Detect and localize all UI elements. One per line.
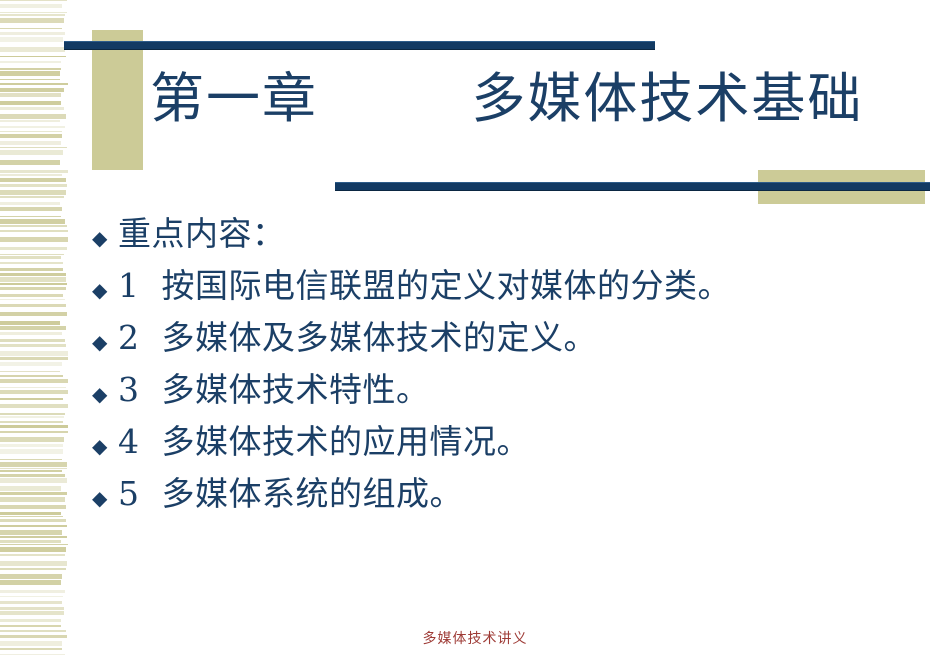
diamond-bullet-icon: ◆ — [92, 384, 118, 404]
stripe-line — [0, 574, 62, 579]
stripe-line — [0, 56, 66, 57]
stripe-line — [0, 516, 63, 517]
stripe-line — [0, 590, 65, 593]
list-item-label: 1 按国际电信联盟的定义对媒体的分类。 — [118, 269, 922, 302]
stripe-line — [0, 326, 66, 330]
stripe-line — [0, 462, 67, 467]
stripe-line — [0, 304, 66, 307]
stripe-line — [0, 547, 66, 552]
stripe-line — [0, 413, 65, 415]
stripe-line — [0, 540, 61, 543]
stripe-line — [0, 390, 68, 394]
list-item-label: 5 多媒体系统的组成。 — [118, 477, 922, 510]
stripe-line — [0, 321, 60, 325]
stripe-line — [0, 468, 67, 469]
stripe-line — [0, 14, 65, 16]
stripe-line — [0, 536, 67, 538]
stripe-line — [0, 530, 62, 535]
stripe-line — [0, 71, 60, 76]
stripe-line — [0, 256, 61, 259]
stripe-line — [0, 219, 65, 224]
stripe-line — [0, 273, 66, 276]
stripe-line — [0, 596, 63, 597]
stripe-line — [0, 625, 61, 627]
stripe-line — [0, 444, 63, 447]
stripe-line — [0, 478, 67, 483]
diamond-bullet-icon: ◆ — [92, 280, 118, 300]
stripe-line — [0, 247, 67, 250]
stripe-line — [0, 425, 68, 428]
list-item: ◆ 3 多媒体技术特性。 — [92, 373, 922, 425]
stripe-line — [0, 497, 65, 502]
stripe-line — [0, 196, 64, 198]
stripe-line — [0, 68, 61, 70]
stripe-line — [0, 134, 62, 138]
left-stripe-decoration — [0, 0, 68, 658]
stripe-line — [0, 141, 61, 145]
stripe-line — [0, 619, 61, 622]
stripe-line — [0, 421, 63, 423]
presentation-slide: 第一章 多媒体技术基础 ◆ 重点内容： ◆ 1 按国际电信联盟的定义对媒体的分类… — [0, 0, 950, 658]
list-item: ◆ 5 多媒体系统的组成。 — [92, 477, 922, 529]
bullet-list: ◆ 重点内容： ◆ 1 按国际电信联盟的定义对媒体的分类。 ◆ 2 多媒体及多媒… — [92, 217, 922, 529]
slide-footer: 多媒体技术讲义 — [0, 628, 950, 648]
stripe-line — [0, 431, 68, 433]
stripe-line — [0, 287, 66, 290]
stripe-line — [0, 93, 61, 97]
stripe-line — [0, 207, 62, 211]
stripe-line — [0, 237, 68, 242]
stripe-line — [0, 262, 63, 264]
stripe-line — [0, 4, 62, 8]
stripe-line — [0, 492, 67, 495]
navy-rule-top — [64, 41, 655, 50]
list-item: ◆ 1 按国际电信联盟的定义对媒体的分类。 — [92, 269, 922, 321]
khaki-accent-block-left — [92, 30, 143, 170]
stripe-line — [0, 519, 66, 522]
diamond-bullet-icon: ◆ — [92, 436, 118, 456]
stripe-line — [0, 351, 68, 356]
stripe-line — [0, 449, 63, 454]
diamond-bullet-icon: ◆ — [92, 228, 118, 248]
stripe-line — [0, 131, 62, 132]
stripe-line — [0, 332, 62, 335]
stripe-line — [0, 601, 62, 604]
stripe-line — [0, 379, 68, 383]
stripe-line — [0, 120, 60, 122]
stripe-line — [0, 357, 68, 360]
stripe-line — [0, 344, 66, 347]
stripe-line — [0, 170, 68, 173]
stripe-line — [0, 568, 66, 570]
stripe-line — [0, 544, 68, 545]
stripe-line — [0, 32, 65, 35]
stripe-line — [0, 18, 64, 23]
stripe-line — [0, 184, 67, 187]
stripe-line — [0, 47, 65, 52]
stripe-line — [0, 607, 64, 610]
stripe-line — [0, 554, 65, 556]
stripe-line — [0, 202, 60, 205]
list-item: ◆ 4 多媒体技术的应用情况。 — [92, 425, 922, 477]
stripe-line — [0, 580, 61, 585]
stripe-line — [0, 294, 63, 297]
stripe-line — [0, 147, 67, 148]
stripe-line — [0, 312, 67, 316]
stripe-line — [0, 283, 67, 285]
slide-title: 第一章 多媒体技术基础 — [150, 72, 940, 126]
list-item: ◆ 2 多媒体及多媒体技术的定义。 — [92, 321, 922, 373]
stripe-line — [0, 101, 61, 105]
stripe-line — [0, 299, 65, 300]
stripe-line — [0, 387, 66, 388]
stripe-line — [0, 561, 67, 566]
stripe-line — [0, 512, 61, 515]
diamond-bullet-icon: ◆ — [92, 332, 118, 352]
stripe-line — [0, 459, 62, 460]
stripe-line — [0, 37, 63, 42]
stripe-line — [0, 190, 66, 195]
stripe-line — [0, 216, 61, 217]
stripe-line — [0, 0, 67, 1]
list-item-label: 3 多媒体技术特性。 — [118, 373, 922, 406]
stripe-line — [0, 88, 64, 92]
stripe-line — [0, 339, 65, 342]
navy-rule-bottom — [335, 182, 930, 191]
stripe-line — [0, 268, 63, 271]
stripe-line — [0, 470, 62, 472]
stripe-line — [0, 648, 62, 650]
stripe-line — [0, 486, 61, 491]
stripe-line — [0, 525, 67, 527]
stripe-line — [0, 126, 65, 128]
stripe-line — [0, 654, 65, 655]
list-item-label: 重点内容： — [118, 217, 922, 250]
stripe-line — [0, 225, 67, 227]
stripe-line — [0, 160, 60, 165]
stripe-line — [0, 371, 60, 372]
stripe-line — [0, 174, 62, 176]
list-item-label: 2 多媒体及多媒体技术的定义。 — [118, 321, 922, 354]
stripe-line — [0, 83, 68, 85]
stripe-line — [0, 505, 66, 509]
stripe-line — [0, 178, 66, 182]
stripe-line — [0, 277, 66, 282]
stripe-line — [0, 114, 66, 119]
stripe-line — [0, 362, 62, 366]
stripe-line — [0, 375, 63, 377]
stripe-line — [0, 254, 64, 255]
stripe-line — [0, 404, 68, 408]
stripe-line — [0, 398, 63, 400]
stripe-line — [0, 79, 60, 80]
stripe-line — [0, 150, 63, 155]
stripe-line — [0, 437, 64, 442]
stripe-line — [0, 416, 64, 418]
stripe-line — [0, 230, 68, 232]
stripe-line — [0, 12, 67, 13]
stripe-line — [0, 474, 65, 477]
stripe-line — [0, 611, 64, 615]
list-item: ◆ 重点内容： — [92, 217, 922, 269]
stripe-line — [0, 61, 61, 63]
stripe-line — [0, 107, 64, 110]
diamond-bullet-icon: ◆ — [92, 488, 118, 508]
stripe-line — [0, 28, 62, 29]
list-item-label: 4 多媒体技术的应用情况。 — [118, 425, 922, 458]
